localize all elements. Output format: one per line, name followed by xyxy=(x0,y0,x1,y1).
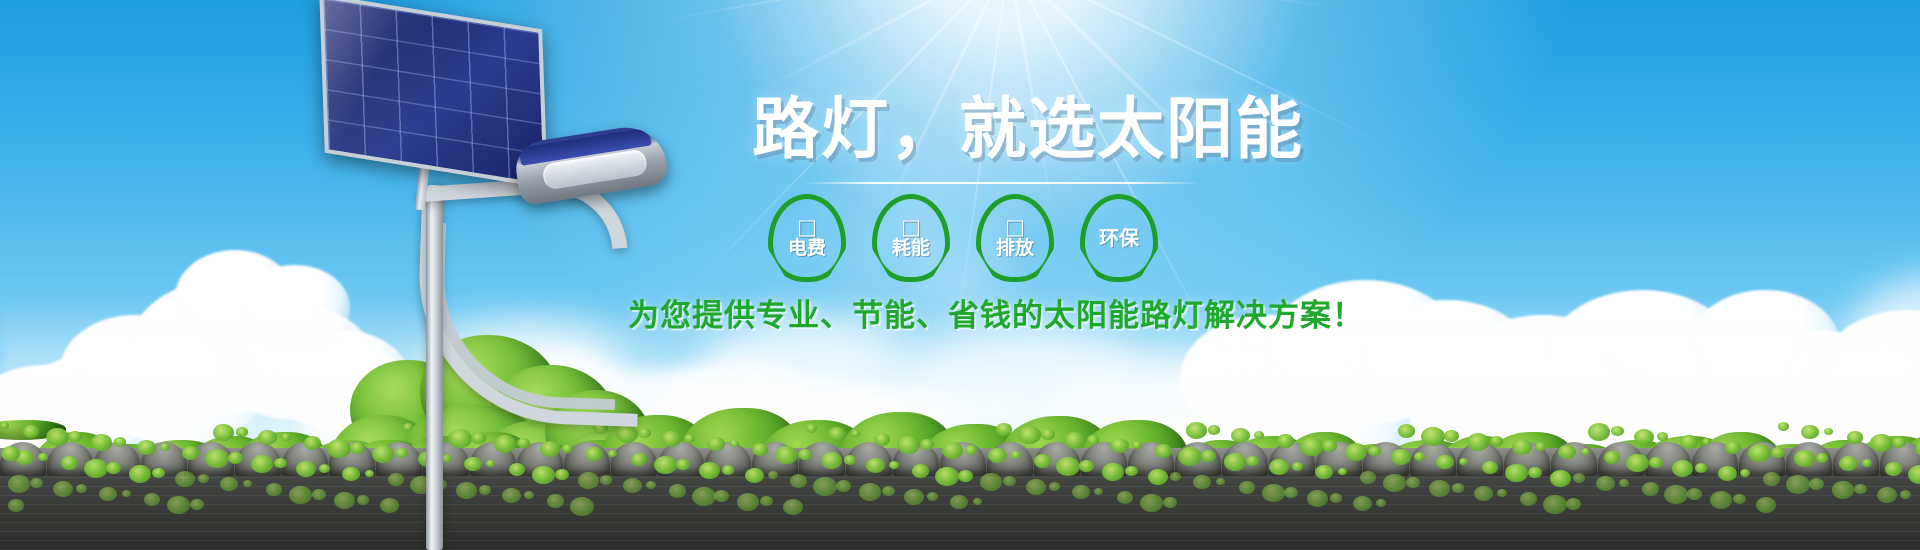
feature-badge-list: □ 电费 □ 耗能 □ 排放 环保 xyxy=(768,194,1198,286)
roof-tile xyxy=(1692,442,1738,476)
roof-tile xyxy=(1645,442,1691,476)
roof-tiles xyxy=(0,442,1920,476)
roof-tile xyxy=(1833,442,1879,476)
roof-tile xyxy=(940,442,986,476)
solar-street-light-banner: 路灯，就选太阳能 □ 电费 □ 耗能 □ 排放 xyxy=(0,0,1920,550)
roof-tile xyxy=(1363,442,1409,476)
roof-tile xyxy=(1175,442,1221,476)
solar-panel-glare xyxy=(323,0,543,184)
roof-tile xyxy=(1786,442,1832,476)
roof-tile xyxy=(1880,442,1920,476)
roof-tile xyxy=(1316,442,1362,476)
badge-zero-glyph: □ xyxy=(797,217,817,238)
roof-tile xyxy=(1081,442,1127,476)
roof-tile xyxy=(1034,442,1080,476)
roof-tile xyxy=(141,442,187,476)
roof-tile xyxy=(0,442,46,476)
roof-tile xyxy=(188,442,234,476)
roof-tile xyxy=(799,442,845,476)
wall-texture xyxy=(0,468,1920,550)
badge-label: 电费 xyxy=(788,238,826,259)
roof-tile xyxy=(1457,442,1503,476)
roof-tile xyxy=(846,442,892,476)
badge-label: 耗能 xyxy=(892,238,930,259)
roof-tile xyxy=(235,442,281,476)
roof-tile xyxy=(1739,442,1785,476)
feature-badge-1: □ 耗能 xyxy=(872,194,950,282)
roof-tile xyxy=(752,442,798,476)
roof-tile xyxy=(47,442,93,476)
feature-badge-3: 环保 xyxy=(1080,194,1158,282)
roof-tile xyxy=(1222,442,1268,476)
solar-panel xyxy=(319,0,547,188)
feature-badge-0: □ 电费 xyxy=(768,194,846,282)
feature-badge-2: □ 排放 xyxy=(976,194,1054,282)
solar-street-light xyxy=(300,0,720,550)
roof-tile xyxy=(1504,442,1550,476)
roof-tile xyxy=(1410,442,1456,476)
roof-tile xyxy=(987,442,1033,476)
subtitle: 为您提供专业、节能、省钱的太阳能路灯解决方案！ xyxy=(628,290,1364,335)
roof-tile xyxy=(1128,442,1174,476)
roof-tile xyxy=(1598,442,1644,476)
roof-tile xyxy=(1269,442,1315,476)
badge-label: 环保 xyxy=(1099,228,1139,249)
roof-tile xyxy=(94,442,140,476)
page-title: 路灯，就选太阳能 xyxy=(752,96,1304,163)
badge-zero-glyph: □ xyxy=(901,217,921,238)
roof-tile xyxy=(893,442,939,476)
title-underline xyxy=(802,182,1200,184)
badge-label: 排放 xyxy=(996,238,1034,259)
roof-tile xyxy=(1551,442,1597,476)
badge-zero-glyph: □ xyxy=(1005,217,1025,238)
